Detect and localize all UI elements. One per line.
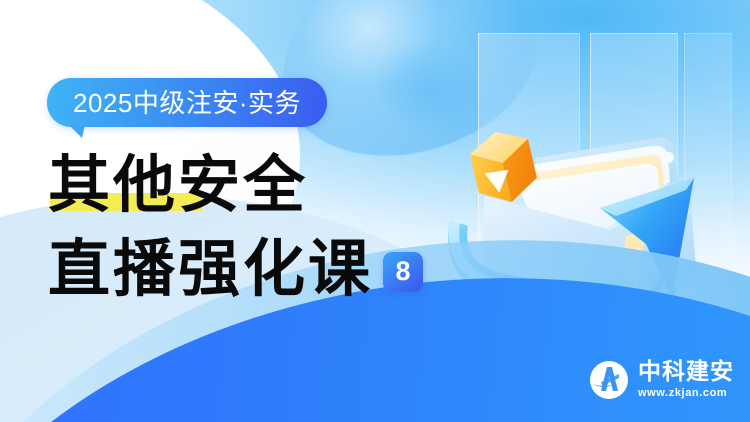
brand-text: 中科建安 www.zkjan.com (638, 361, 734, 399)
brand-url: www.zkjan.com (638, 388, 734, 399)
headline-line-1: 其他安全 (48, 150, 468, 220)
speech-bubble-tail-icon (69, 125, 85, 138)
headline-line-2-text: 直播强化课 (48, 232, 373, 305)
course-badge-label: 2025中级注安·实务 (73, 83, 301, 120)
zkjan-logo-icon (589, 360, 629, 400)
brand-name: 中科建安 (638, 361, 734, 384)
episode-number-badge: 8 (383, 252, 423, 292)
course-banner: 2025中级注安·实务 其他安全 直播强化课8 中科建安 www.zkjan.c… (0, 0, 750, 422)
brand-logo[interactable]: 中科建安 www.zkjan.com (589, 360, 734, 400)
headline: 其他安全 直播强化课8 (48, 150, 468, 304)
headline-line-2: 直播强化课8 (48, 234, 468, 304)
headline-line-1-text: 其他安全 (48, 148, 308, 221)
course-badge-pill: 2025中级注安·实务 (47, 78, 327, 127)
course-badge: 2025中级注安·实务 (47, 78, 327, 127)
